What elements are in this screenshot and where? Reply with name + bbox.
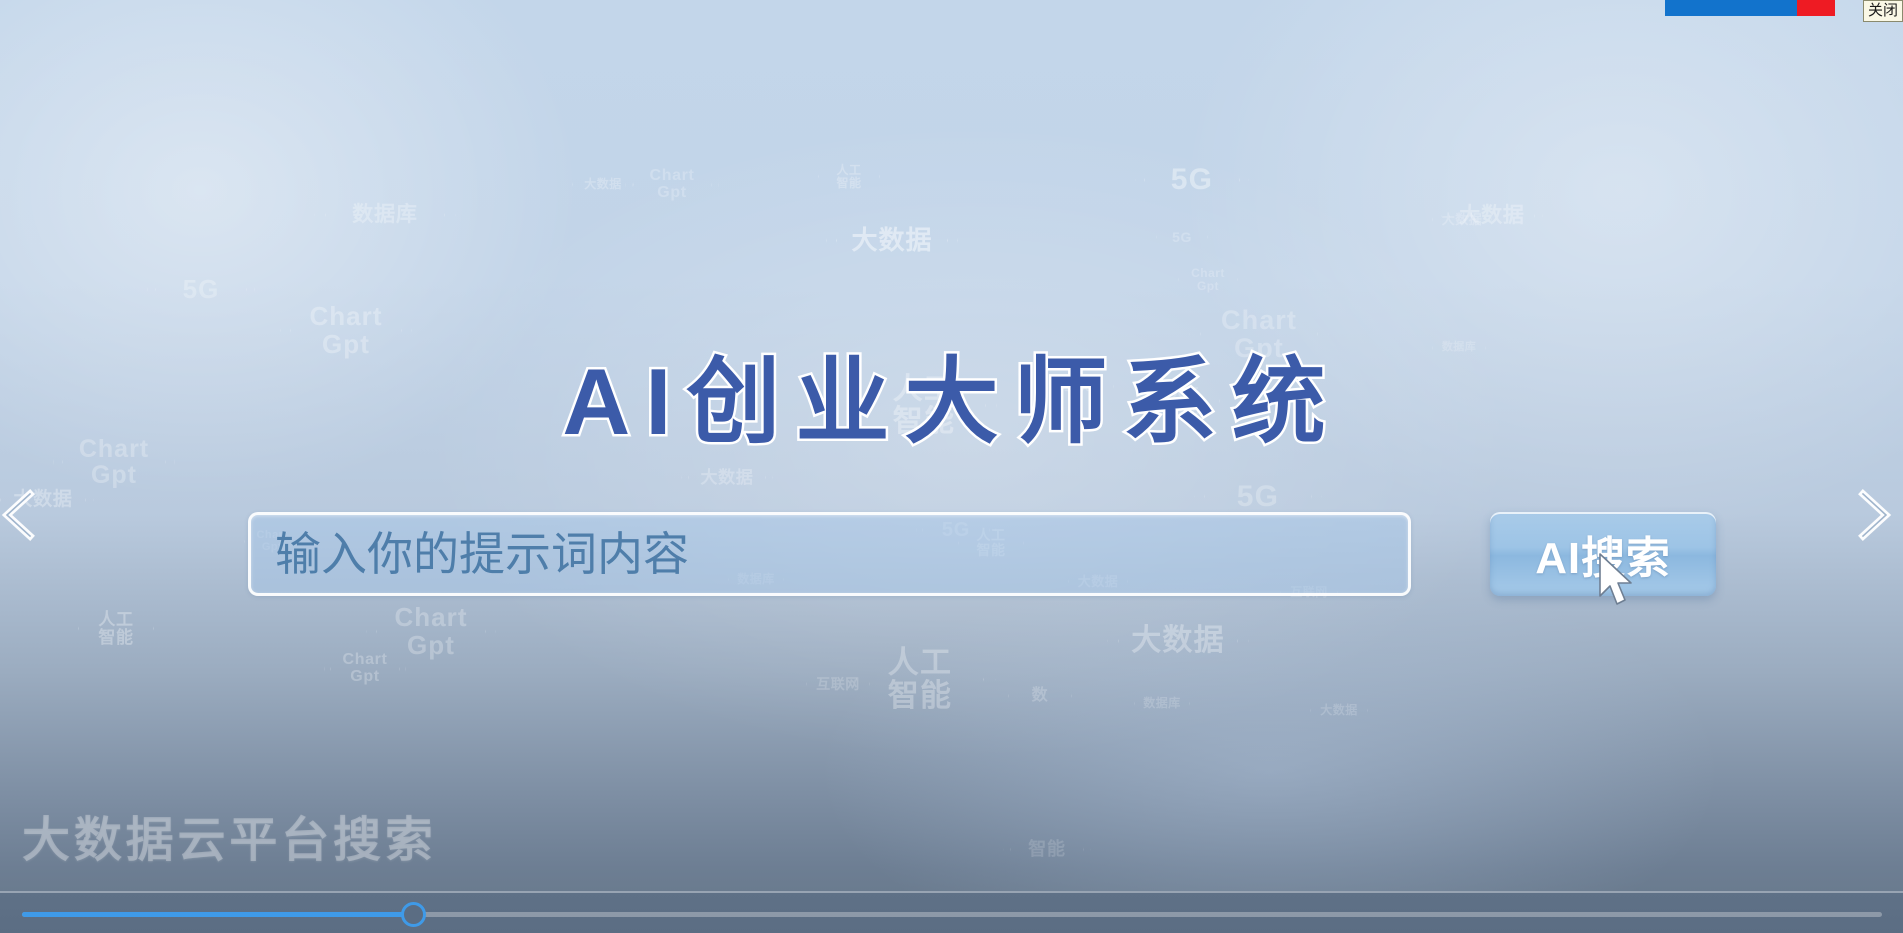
blue-bar-indicator	[1665, 0, 1797, 16]
red-close-block[interactable]	[1797, 0, 1835, 16]
page-title: AI创业大师系统	[0, 326, 1903, 462]
hexagon-tag: 大数据	[1310, 678, 1368, 743]
hexagon-tag: 智能	[1010, 808, 1084, 891]
hexagon-outline-icon	[1135, 116, 1248, 243]
hexagon-tag: 5G	[1156, 208, 1208, 266]
hexagon-outline-icon	[314, 136, 456, 294]
hexagon-outline-icon	[1310, 678, 1368, 743]
hexagon-label: Chart Gpt	[388, 604, 473, 659]
hexagon-outline-icon	[1144, 126, 1240, 234]
hexagon-outline-icon	[330, 630, 400, 708]
hexagon-tag: 大数据	[836, 178, 948, 303]
hexagon-label: 互联网	[810, 677, 866, 692]
hexagon-tag: 大数据	[1432, 186, 1492, 253]
watermark-text: 大数据云平台搜索	[22, 800, 437, 870]
hexagon-label: 人工 智能	[92, 611, 139, 647]
hexagon-label: 大数据	[1453, 205, 1531, 227]
hexagon-tag: 数	[1008, 660, 1072, 732]
hexagon-outline-icon	[856, 608, 984, 751]
hexagon-label: 人工 智能	[831, 164, 868, 189]
video-progress-bar[interactable]	[0, 891, 1903, 933]
slide-stage: 数据库大数据Chart Gpt5G大数据人工 智能5G大数据5GChart Gp…	[0, 0, 1903, 933]
hexagon-tag: 互联网	[806, 648, 870, 720]
hexagon-label: Chart Gpt	[1185, 267, 1231, 292]
hexagon-tag: 数据库	[1134, 672, 1190, 735]
hexagon-label: 大数据	[578, 178, 627, 191]
hexagon-outline-icon	[1432, 186, 1492, 253]
hexagon-tag: 5G	[1144, 126, 1240, 234]
hexagon-label: 大数据	[1436, 213, 1489, 227]
hexagon-outline-icon	[826, 167, 958, 315]
chevron-left-icon[interactable]	[0, 487, 44, 543]
hexagon-tag: 大数据	[1449, 168, 1535, 264]
search-input[interactable]	[248, 512, 1411, 596]
hexagon-outline-icon	[844, 595, 995, 764]
hexagon-tag: 大数据	[572, 150, 634, 219]
hexagon-label: Chart Gpt	[337, 652, 394, 686]
hexagon-outline-icon	[806, 648, 870, 720]
search-bar: AI搜索	[248, 512, 1718, 596]
slider-handle-icon[interactable]	[401, 902, 426, 927]
hexagon-label: 5G	[1231, 481, 1285, 513]
hexagon-label: 5G	[1165, 164, 1219, 196]
hexagon-tag: 人工 智能	[78, 586, 154, 671]
hexagon-outline-icon	[1008, 660, 1072, 732]
hexagon-outline-icon	[632, 140, 712, 230]
hexagon-outline-icon	[836, 178, 948, 303]
hexagon-label: 智能	[1022, 840, 1071, 859]
hexagon-decoration-layer: 数据库大数据Chart Gpt5G大数据人工 智能5G大数据5GChart Gp…	[0, 0, 1903, 933]
hexagon-outline-icon	[625, 132, 719, 238]
hexagon-outline-icon	[1449, 168, 1535, 264]
hexagon-outline-icon	[1010, 808, 1084, 891]
hexagon-label: 人工 智能	[882, 647, 958, 712]
hexagon-outline-icon	[325, 148, 445, 282]
hexagon-tag: Chart Gpt	[330, 630, 400, 708]
hexagon-label: 数据库	[346, 204, 424, 226]
hexagon-tag: Chart Gpt	[1178, 246, 1238, 313]
hexagon-outline-icon	[1003, 801, 1090, 899]
hexagon-label: 数	[1026, 688, 1055, 705]
close-tooltip: 关闭	[1863, 0, 1903, 22]
hexagon-outline-icon	[1156, 208, 1208, 266]
hexagon-tag: 人工 智能	[818, 142, 880, 211]
progress-fill	[22, 912, 413, 917]
hexagon-tag: 人工 智能	[856, 608, 984, 751]
hexagon-label: 大数据	[694, 469, 759, 487]
hexagon-label: 数据库	[1137, 697, 1186, 710]
hexagon-label: Chart Gpt	[644, 168, 701, 202]
hexagon-outline-icon	[1178, 246, 1238, 313]
background-glow	[820, 560, 1720, 933]
hexagon-label: 5G	[1166, 230, 1198, 245]
hexagon-tag: 数据库	[325, 148, 445, 282]
ai-search-button[interactable]: AI搜索	[1490, 512, 1716, 596]
hexagon-outline-icon	[1134, 672, 1190, 735]
hexagon-outline-icon	[1441, 159, 1542, 272]
hexagon-outline-icon	[572, 150, 634, 219]
chevron-right-icon[interactable]	[1849, 487, 1895, 543]
hexagon-label: 5G	[177, 276, 226, 303]
hexagon-label: 大数据	[1125, 625, 1231, 657]
hexagon-outline-icon	[324, 623, 407, 715]
hexagon-outline-icon	[78, 586, 154, 671]
hexagon-tag: Chart Gpt	[632, 140, 712, 230]
hexagon-label: 大数据	[1314, 704, 1363, 717]
hexagon-outline-icon	[818, 142, 880, 211]
hexagon-label: 大数据	[845, 227, 938, 254]
